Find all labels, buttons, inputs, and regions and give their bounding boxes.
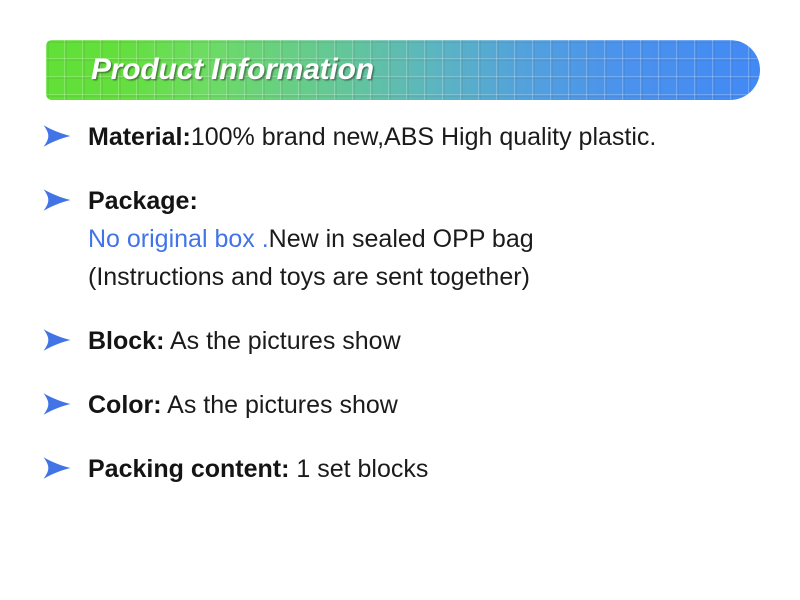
item-value-packing-content: 1 set blocks	[289, 455, 428, 483]
item-label-color: Color:	[88, 391, 162, 419]
item-text-packing-content: Packing content: 1 set blocks	[88, 450, 780, 488]
list-item-block: Block: As the pictures show	[40, 322, 780, 360]
list-item-packing-content: Packing content: 1 set blocks	[40, 450, 780, 488]
item-text-package: Package:	[88, 182, 780, 220]
arrow-right-bullet-icon	[42, 188, 72, 212]
package-no-original-box-text: No original box .	[88, 225, 269, 253]
item-text-block: Block: As the pictures show	[88, 322, 780, 360]
package-detail-line-2: (Instructions and toys are sent together…	[88, 258, 780, 296]
item-label-material: Material:	[88, 123, 191, 151]
item-value-color: As the pictures show	[162, 391, 398, 419]
arrow-right-bullet-icon	[42, 124, 72, 148]
product-information-banner: Product Information	[46, 40, 760, 100]
arrow-right-bullet-icon	[42, 456, 72, 480]
item-label-packing-content: Packing content:	[88, 455, 289, 483]
item-value-material: 100% brand new,ABS High quality plastic.	[191, 123, 657, 151]
item-text-color: Color: As the pictures show	[88, 386, 780, 424]
arrow-right-bullet-icon	[42, 328, 72, 352]
arrow-right-bullet-icon	[42, 392, 72, 416]
item-value-block: As the pictures show	[164, 327, 400, 355]
item-label-package: Package:	[88, 187, 198, 215]
list-item-color: Color: As the pictures show	[40, 386, 780, 424]
package-instructions-text: (Instructions and toys are sent together…	[88, 263, 530, 291]
package-detail-line-1: No original box .New in sealed OPP bag	[88, 220, 780, 258]
list-item-package: Package: No original box .New in sealed …	[40, 182, 780, 296]
item-label-block: Block:	[88, 327, 164, 355]
page-title: Product Information	[91, 40, 374, 100]
list-item-material: Material:100% brand new,ABS High quality…	[40, 118, 780, 156]
package-sealed-bag-text: New in sealed OPP bag	[269, 225, 534, 253]
item-text-material: Material:100% brand new,ABS High quality…	[88, 118, 780, 156]
product-info-list: Material:100% brand new,ABS High quality…	[40, 118, 780, 488]
